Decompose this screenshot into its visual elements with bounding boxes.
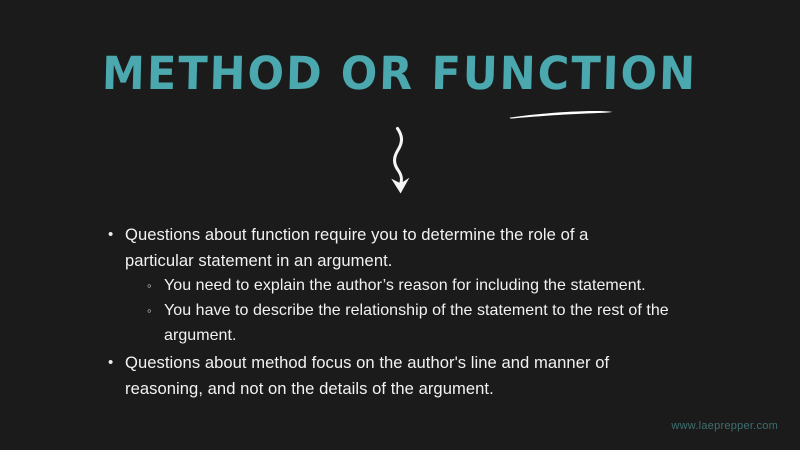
list-item-text: You have to describe the relationship of… xyxy=(164,298,724,348)
list-item-text: Questions about function require you to … xyxy=(125,222,650,273)
list-item: • Questions about method focus on the au… xyxy=(108,350,748,401)
list-item: ◦ You need to explain the author’s reaso… xyxy=(147,273,748,298)
footer-watermark: www.laeprepper.com xyxy=(671,420,778,432)
title-block: METHOD OR FUNCTION xyxy=(0,52,800,97)
brush-underline-icon xyxy=(508,110,614,119)
bullet-marker-hollow: ◦ xyxy=(147,273,164,298)
list-item-text: Questions about method focus on the auth… xyxy=(125,350,650,401)
list-item: • Questions about function require you t… xyxy=(108,222,748,273)
bullet-marker-filled: • xyxy=(108,222,125,248)
slide-canvas: METHOD OR FUNCTION • Questions about fun… xyxy=(0,0,800,450)
bullet-list: • Questions about function require you t… xyxy=(108,222,748,401)
page-title: METHOD OR FUNCTION xyxy=(102,51,698,99)
list-item: ◦ You have to describe the relationship … xyxy=(147,298,748,348)
list-item-text: You need to explain the author’s reason … xyxy=(164,273,724,298)
curly-down-arrow-icon xyxy=(372,126,428,198)
bullet-marker-filled: • xyxy=(108,350,125,376)
bullet-marker-hollow: ◦ xyxy=(147,298,164,323)
